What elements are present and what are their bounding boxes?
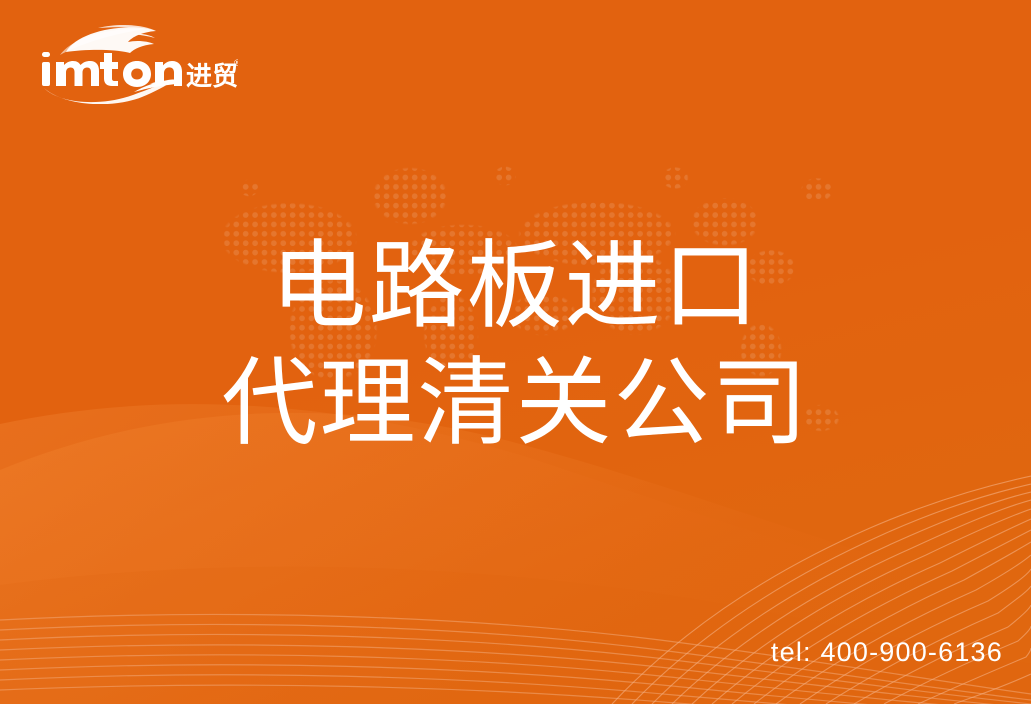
headline-line-1: 电路板进口 bbox=[0, 228, 1031, 345]
headline: 电路板进口 代理清关公司 bbox=[0, 228, 1031, 462]
contact-phone: tel: 400-900-6136 bbox=[771, 637, 1003, 668]
headline-line-2: 代理清关公司 bbox=[0, 345, 1031, 462]
logo-trademark-symbol: ® bbox=[234, 58, 238, 68]
logo-chinese-name: 进贸通 bbox=[186, 61, 238, 91]
promo-banner: 进贸通 ® 电路板进口 代理清关公司 tel: 400-900-6136 bbox=[0, 0, 1031, 704]
company-logo[interactable]: 进贸通 ® bbox=[38, 22, 238, 104]
globe-dotted-icon bbox=[60, 25, 156, 55]
